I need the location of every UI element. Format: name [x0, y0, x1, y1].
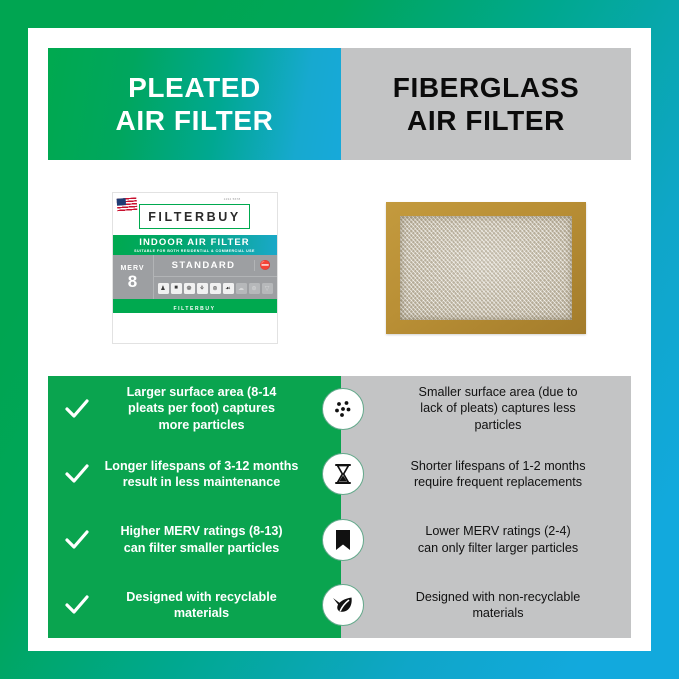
pleated-benefit-text: Designed with recyclable materials — [98, 589, 305, 622]
pleated-brand-name: FILTERBUY — [148, 210, 241, 224]
pleated-media-area: FILTERBUY — [113, 299, 277, 313]
particle-icon: ■ — [171, 283, 182, 294]
leaf-icon — [322, 584, 364, 626]
pleated-grade-label: STANDARD — [154, 260, 254, 271]
hourglass-icon — [322, 453, 364, 495]
pleated-benefit-text: Longer lifespans of 3-12 months result i… — [98, 458, 305, 491]
products-row: 1234 5678 FILTERBUY INDOOR AIR FILTER SU… — [48, 168, 631, 368]
no-smoking-icon: ⛔ — [254, 260, 277, 271]
pleated-filter-image: 1234 5678 FILTERBUY INDOOR AIR FILTER SU… — [112, 192, 278, 344]
fiberglass-media-texture — [400, 216, 572, 320]
fiberglass-drawback-text: Designed with non-recyclable materials — [416, 589, 581, 622]
header-fiberglass: FIBERGLASS AIR FILTER — [341, 48, 631, 160]
pleated-footer-brand: FILTERBUY — [113, 306, 277, 312]
merv-badge: MERV 8 — [113, 255, 154, 299]
smoke-icon: ☁ — [236, 283, 247, 294]
merv-value: 8 — [128, 273, 137, 290]
merv-label: MERV — [120, 265, 144, 272]
pleated-band: INDOOR AIR FILTER SUITABLE FOR BOTH RESI… — [113, 235, 277, 255]
comparison-row: Designed with recyclable materials Desig… — [48, 573, 631, 639]
checkmark-icon — [62, 459, 92, 489]
bacteria-icon: ⊚ — [210, 283, 221, 294]
pleated-band-subtitle: SUITABLE FOR BOTH RESIDENTIAL & COMMERCI… — [134, 249, 255, 253]
pleated-benefit-cell: Higher MERV ratings (8-13) can filter sm… — [48, 507, 341, 573]
checkmark-icon — [62, 394, 92, 424]
fiberglass-drawback-text: Shorter lifespans of 1-2 months require … — [410, 458, 585, 491]
pleated-spec-strip: MERV 8 STANDARD ⛔ ♟ ■ ❁ — [113, 255, 277, 299]
fiberglass-drawback-cell: Shorter lifespans of 1-2 months require … — [341, 442, 631, 508]
fiberglass-drawback-cell: Designed with non-recyclable materials — [341, 573, 631, 639]
fiberglass-drawback-text: Smaller surface area (due to lack of ple… — [419, 384, 578, 434]
comparison-row: Larger surface area (8-14 pleats per foo… — [48, 376, 631, 442]
header-fiberglass-title: FIBERGLASS AIR FILTER — [393, 71, 579, 137]
pleated-filter-top: 1234 5678 FILTERBUY — [113, 193, 277, 235]
pleated-filter-code: 1234 5678 — [224, 197, 241, 201]
header-row: PLEATED AIR FILTER FIBERGLASS AIR FILTER — [48, 48, 631, 160]
header-pleated: PLEATED AIR FILTER — [48, 48, 341, 160]
comparison-rows: Larger surface area (8-14 pleats per foo… — [48, 376, 631, 638]
fiberglass-drawback-cell: Lower MERV ratings (2-4) can only filter… — [341, 507, 631, 573]
checkmark-icon — [62, 525, 92, 555]
dust-icon: ♟ — [158, 283, 169, 294]
pet-dander-icon: ☙ — [223, 283, 234, 294]
pleated-benefit-cell: Designed with recyclable materials — [48, 573, 341, 639]
pleated-benefit-text: Higher MERV ratings (8-13) can filter sm… — [98, 523, 305, 556]
fiberglass-drawback-text: Lower MERV ratings (2-4) can only filter… — [418, 523, 578, 556]
bookmark-icon — [322, 519, 364, 561]
virus-icon: ⊛ — [249, 283, 260, 294]
voc-icon: ▽ — [262, 283, 273, 294]
infographic-canvas: PLEATED AIR FILTER FIBERGLASS AIR FILTER… — [28, 28, 651, 651]
pleated-benefit-cell: Longer lifespans of 3-12 months result i… — [48, 442, 341, 508]
pleated-benefit-cell: Larger surface area (8-14 pleats per foo… — [48, 376, 341, 442]
pollen-icon: ❁ — [184, 283, 195, 294]
comparison-infographic: PLEATED AIR FILTER FIBERGLASS AIR FILTER… — [0, 0, 679, 679]
comparison-row: Longer lifespans of 3-12 months result i… — [48, 442, 631, 508]
comparison-row: Higher MERV ratings (8-13) can filter sm… — [48, 507, 631, 573]
particles-icon — [322, 388, 364, 430]
pleated-product-cell: 1234 5678 FILTERBUY INDOOR AIR FILTER SU… — [48, 168, 341, 368]
pleated-capability-icons: ♟ ■ ❁ ⚘ ⊚ ☙ ☁ ⊛ ▽ — [154, 277, 277, 299]
fiberglass-filter-image — [386, 202, 586, 334]
pleated-band-title: INDOOR AIR FILTER — [139, 237, 250, 248]
pleated-brand-box: FILTERBUY — [139, 204, 250, 229]
checkmark-icon — [62, 590, 92, 620]
header-pleated-title: PLEATED AIR FILTER — [116, 71, 274, 137]
usa-flag-icon — [116, 197, 137, 211]
fiberglass-drawback-cell: Smaller surface area (due to lack of ple… — [341, 376, 631, 442]
mold-icon: ⚘ — [197, 283, 208, 294]
pleated-spec-right: STANDARD ⛔ ♟ ■ ❁ ⚘ ⊚ ☙ ☁ ⊛ — [154, 255, 277, 299]
fiberglass-product-cell — [341, 168, 631, 368]
pleated-grade-row: STANDARD ⛔ — [154, 255, 277, 277]
pleated-benefit-text: Larger surface area (8-14 pleats per foo… — [98, 384, 305, 434]
